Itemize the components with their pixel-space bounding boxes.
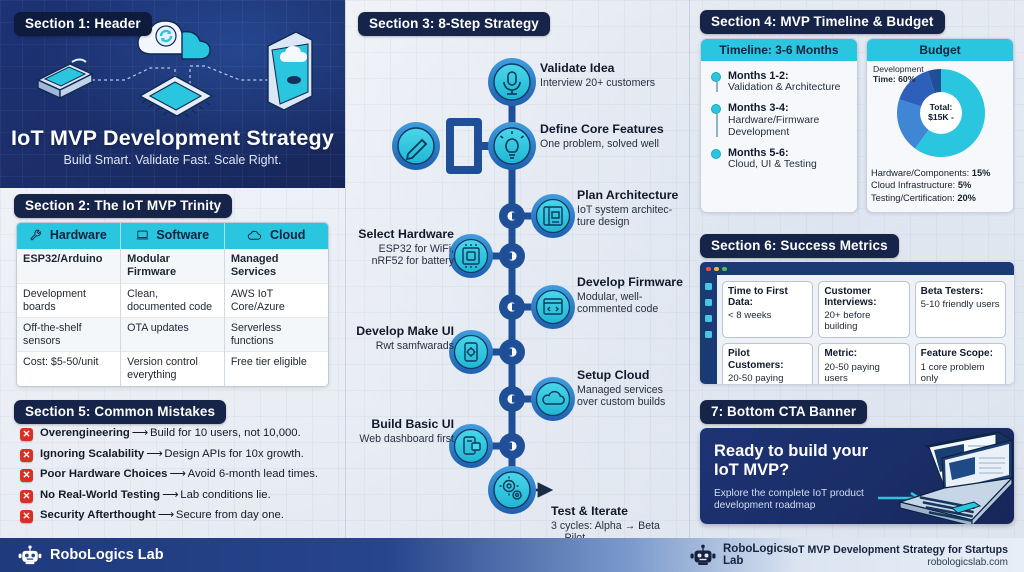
arrow-icon: ⟶	[167, 468, 187, 480]
metric-card: Customer Interviews: 20+ before building	[818, 281, 909, 338]
step-title: Test & Iterate	[551, 505, 679, 519]
window-titlebar	[700, 262, 1014, 275]
footer-brand-name: RoboLogics Lab	[723, 543, 789, 568]
step-node-select-hardware	[449, 234, 493, 278]
x-mark-icon: ✕	[20, 428, 33, 441]
arrow-icon: ⟶	[144, 448, 164, 460]
timeline-label: Months 1-2:	[728, 70, 851, 82]
timeline-dot-icon	[711, 104, 721, 114]
mistake-desc: Build for 10 users, not 10,000.	[150, 427, 301, 439]
metric-title: Time to First Data:	[728, 286, 807, 308]
step-node-pencil	[392, 122, 440, 170]
metric-card: Pilot Customers: 20-50 paying users	[722, 343, 813, 384]
metric-value: 5-10 friendly users	[921, 299, 1000, 310]
step-label-define-core-features: Define Core Features One problem, solved…	[540, 123, 685, 150]
column-header-hardware: Hardware	[17, 223, 121, 249]
table-row: Development boards Clean, documented cod…	[17, 283, 328, 317]
step-title: Develop Make UI	[354, 325, 454, 339]
step-subtitle: ESP32 for WiFi, nRF52 for battery	[354, 243, 454, 268]
cell: Managed Services	[224, 249, 328, 283]
budget-panel: Budget Development Time: 60% Total:	[866, 38, 1014, 213]
maximize-icon[interactable]	[722, 267, 727, 272]
mistake-title: No Real-World Testing	[40, 489, 160, 501]
cell: OTA updates	[121, 318, 225, 352]
cell: Off-the-shelf sensors	[17, 318, 121, 352]
step-title: Build Basic UI	[350, 418, 454, 432]
robot-icon	[690, 544, 716, 566]
step-node-develop-firmware	[531, 285, 575, 329]
gateway-device-icon	[38, 60, 92, 99]
step-node-build-basic-ui	[449, 424, 493, 468]
step-node-test-iterate	[488, 466, 548, 514]
footer-brand-name: RoboLogics Lab	[50, 547, 164, 563]
step-label-select-hardware: Select Hardware ESP32 for WiFi, nRF52 fo…	[354, 228, 454, 267]
infographic-page: Section 1: Header	[0, 0, 1024, 572]
brand-line-2: Lab	[723, 555, 743, 567]
timeline-item: Months 5-6: Cloud, UI & Testing	[711, 147, 851, 171]
footer-bar: RoboLogics Lab RoboLogics Lab IoT MVP De…	[0, 538, 1024, 572]
cell: Cost: $5-50/unit	[17, 352, 121, 386]
legend-label: Testing/Certification:	[871, 193, 955, 203]
cell: Free tier eligible	[224, 352, 328, 386]
cell: Serverless functions	[224, 318, 328, 352]
step-label-develop-firmware: Develop Firmware Modular, well- commente…	[577, 276, 687, 315]
metric-card: Metric: 20-50 paying users	[818, 343, 909, 384]
window-body: Time to First Data: < 8 weeks Customer I…	[717, 275, 1011, 381]
metric-title: Customer Interviews:	[824, 286, 903, 308]
section-4-chip: Section 4: MVP Timeline & Budget	[700, 10, 945, 34]
metric-title: Beta Testers:	[921, 286, 1000, 297]
column-label: Cloud	[270, 228, 305, 242]
timeline-desc: Cloud, UI & Testing	[728, 159, 851, 171]
mistake-desc: Lab conditions lie.	[180, 489, 270, 501]
section-6-chip: Section 6: Success Metrics	[700, 234, 899, 258]
section-7-chip: 7: Bottom CTA Banner	[700, 400, 867, 424]
robot-icon	[18, 545, 42, 565]
timeline-label: Months 3-4:	[728, 102, 851, 114]
metric-title: Metric:	[824, 348, 903, 359]
column-label: Software	[156, 228, 209, 242]
timeline-desc: Hardware/Firmware Development	[728, 115, 851, 139]
mistake-desc: Avoid 6-month lead times.	[188, 468, 318, 480]
metrics-grid: Time to First Data: < 8 weeks Customer I…	[722, 281, 1006, 384]
x-mark-icon: ✕	[20, 449, 33, 462]
hero-section: Section 1: Header	[0, 0, 345, 188]
column-header-software: Software	[121, 223, 225, 249]
step-label-build-basic-ui: Build Basic UI Web dashboard first	[350, 418, 454, 445]
legend-label: Hardware/Components:	[871, 168, 969, 178]
metric-card: Feature Scope: 1 core problem only	[915, 343, 1006, 384]
footer-url[interactable]: robologicslab.com	[789, 557, 1008, 568]
legend-value: 15%	[972, 168, 991, 178]
timeline-dot-icon	[711, 149, 721, 159]
timeline-connector	[716, 82, 718, 92]
page-title: IoT MVP Development Strategy	[0, 126, 345, 151]
cta-headline: Ready to build your IoT MVP?	[714, 442, 894, 479]
step-subtitle: Web dashboard first	[350, 433, 454, 445]
step-node-develop-make-ui	[449, 330, 493, 374]
mistake-title: Ignoring Scalability	[40, 448, 144, 460]
cell: Modular Firmware	[121, 249, 225, 283]
laptop-icon	[136, 230, 152, 244]
step-subtitle: One problem, solved well	[540, 138, 685, 150]
mistake-desc: Secure from day one.	[176, 509, 284, 521]
timeline-label: Months 5-6:	[728, 147, 851, 159]
step-subtitle: Interview 20+ customers	[540, 77, 680, 89]
success-metrics-window: Time to First Data: < 8 weeks Customer I…	[700, 262, 1014, 384]
section-3-chip: Section 3: 8-Step Strategy	[358, 12, 550, 36]
timeline-desc: Validation & Architecture	[728, 82, 851, 94]
donut-center-label: Total: $15K -	[920, 92, 962, 134]
sidebar-icon-3[interactable]	[705, 315, 712, 322]
step-label-setup-cloud: Setup Cloud Managed services over custom…	[577, 369, 689, 408]
center-column: Section 3: 8-Step Strategy	[345, 0, 690, 538]
x-mark-icon: ✕	[20, 510, 33, 523]
list-item: ✕ Overengineering⟶Build for 10 users, no…	[20, 427, 340, 441]
arrow-icon: ⟶	[130, 427, 150, 439]
cell: Development boards	[17, 283, 121, 317]
budget-legend: Hardware/Components: 15% Cloud Infrastru…	[871, 167, 1013, 204]
step-title: Setup Cloud	[577, 369, 689, 383]
sidebar-icon-2[interactable]	[705, 299, 712, 306]
footer-meta: IoT MVP Development Strategy for Startup…	[789, 544, 1008, 568]
legend-item: Cloud Infrastructure: 5%	[871, 179, 1013, 191]
left-column: Section 1: Header	[0, 0, 345, 538]
minimize-icon[interactable]	[714, 267, 719, 272]
budget-note-line2: Time: 60%	[873, 74, 915, 84]
brand-line-1: RoboLogics	[723, 543, 789, 555]
timeline-title: Timeline: 3-6 Months	[701, 39, 857, 61]
cell: AWS IoT Core/Azure	[224, 283, 328, 317]
metric-title: Feature Scope:	[921, 348, 1000, 359]
timeline-panel: Timeline: 3-6 Months Months 1-2: Validat…	[700, 38, 858, 213]
step-node-plan-architecture	[531, 194, 575, 238]
metric-value: 20-50 paying users	[728, 373, 807, 384]
arrow-icon: ⟶	[160, 489, 180, 501]
step-title: Develop Firmware	[577, 276, 687, 290]
footer-tagline: IoT MVP Development Strategy for Startup…	[789, 544, 1008, 556]
step-node-define-core-features	[488, 122, 536, 170]
step-title: Define Core Features	[540, 123, 685, 137]
mistake-title: Poor Hardware Choices	[40, 468, 167, 480]
step-subtitle: Rwt samfwarads	[354, 340, 454, 352]
laptop-illustration	[882, 430, 1014, 524]
donut-total-value: $15K -	[928, 113, 954, 123]
legend-value: 20%	[957, 193, 976, 203]
sidebar-icon-1[interactable]	[705, 283, 712, 290]
metric-value: 20+ before building	[824, 310, 903, 332]
step-subtitle: Managed services over custom builds	[577, 384, 689, 409]
mistake-desc: Design APIs for 10x growth.	[164, 448, 303, 460]
timeline-item: Months 3-4: Hardware/Firmware Developmen…	[711, 102, 851, 139]
timeline-connector	[716, 114, 718, 137]
cell: ESP32/Arduino	[17, 249, 121, 283]
right-column: Section 4: MVP Timeline & Budget Timelin…	[690, 0, 1024, 538]
cta-banner[interactable]: Ready to build your IoT MVP? Explore the…	[700, 428, 1014, 524]
step-label-develop-make-ui: Develop Make UI Rwt samfwarads	[354, 325, 454, 352]
column-label: Hardware	[50, 228, 107, 242]
legend-item: Hardware/Components: 15%	[871, 167, 1013, 179]
x-mark-icon: ✕	[20, 469, 33, 482]
section-1-chip: Section 1: Header	[14, 12, 152, 36]
common-mistakes-list: ✕ Overengineering⟶Build for 10 users, no…	[20, 427, 340, 530]
step-subtitle: IoT system architec- ture design	[577, 204, 687, 229]
step-node-validate-idea	[488, 58, 536, 106]
timeline-dot-icon	[711, 72, 721, 82]
step-title: Validate Idea	[540, 62, 680, 76]
table-row: ESP32/Arduino Modular Firmware Managed S…	[17, 249, 328, 283]
microchip-icon	[140, 76, 212, 117]
step-subtitle: Modular, well- commented code	[577, 291, 687, 316]
cell: Clean, documented code	[121, 283, 225, 317]
metric-card: Beta Testers: 5-10 friendly users	[915, 281, 1006, 338]
metric-title: Pilot Customers:	[728, 348, 807, 370]
footer-brand-mid: RoboLogics Lab	[690, 543, 789, 568]
sidebar-icon-4[interactable]	[705, 331, 712, 338]
step-label-validate-idea: Validate Idea Interview 20+ customers	[540, 62, 680, 89]
metric-value: 20-50 paying users	[824, 362, 903, 384]
smartphone-icon	[268, 32, 312, 110]
trinity-table: Hardware Software Cloud	[16, 222, 329, 387]
metric-card: Time to First Data: < 8 weeks	[722, 281, 813, 338]
mistake-title: Security Afterthought	[40, 509, 156, 521]
mistake-title: Overengineering	[40, 427, 130, 439]
table-row: Off-the-shelf sensors OTA updates Server…	[17, 318, 328, 352]
arrow-icon: ⟶	[156, 509, 176, 521]
window-sidebar	[700, 275, 717, 384]
budget-title: Budget	[867, 39, 1013, 61]
list-item: ✕ Security Afterthought⟶Secure from day …	[20, 509, 340, 523]
list-item: ✕ Poor Hardware Choices⟶Avoid 6-month le…	[20, 468, 340, 482]
step-node-setup-cloud	[531, 377, 575, 421]
page-subtitle: Build Smart. Validate Fast. Scale Right.	[0, 153, 345, 167]
list-item: ✕ No Real-World Testing⟶Lab conditions l…	[20, 489, 340, 503]
wrench-icon	[30, 230, 45, 244]
budget-dev-note: Development Time: 60%	[873, 65, 924, 84]
timeline-item: Months 1-2: Validation & Architecture	[711, 70, 851, 94]
metric-value: 1 core problem only	[921, 362, 1000, 384]
timeline-list: Months 1-2: Validation & Architecture Mo…	[701, 61, 857, 183]
legend-value: 5%	[958, 180, 971, 190]
step-title: Plan Architecture	[577, 189, 687, 203]
step-title: Select Hardware	[354, 228, 454, 242]
table-row: Cost: $5-50/unit Version control everyth…	[17, 352, 328, 386]
list-item: ✕ Ignoring Scalability⟶Design APIs for 1…	[20, 448, 340, 462]
budget-note-line1: Development	[873, 64, 924, 74]
column-header-cloud: Cloud	[224, 223, 328, 249]
footer-brand-left: RoboLogics Lab	[18, 545, 164, 565]
section-2-chip: Section 2: The IoT MVP Trinity	[14, 194, 232, 218]
section-5-chip: Section 5: Common Mistakes	[14, 400, 226, 424]
metric-value: < 8 weeks	[728, 310, 807, 321]
x-mark-icon: ✕	[20, 490, 33, 503]
close-icon[interactable]	[706, 267, 711, 272]
legend-label: Cloud Infrastructure:	[871, 180, 955, 190]
cta-subtext: Explore the complete IoT product develop…	[714, 488, 874, 512]
cell: Version control everything	[121, 352, 225, 386]
step-label-plan-architecture: Plan Architecture IoT system architec- t…	[577, 189, 687, 228]
legend-item: Testing/Certification: 20%	[871, 192, 1013, 204]
cloud-icon	[247, 230, 265, 244]
table-header-row: Hardware Software Cloud	[17, 223, 328, 249]
